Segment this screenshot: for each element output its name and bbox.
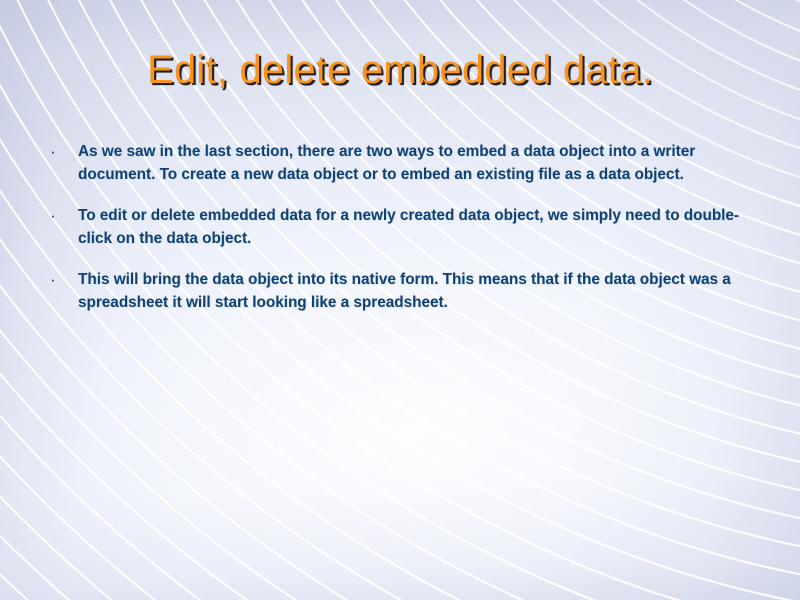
- presentation-slide: Edit, delete embedded data. · As we saw …: [0, 0, 800, 600]
- bullet-marker-icon: ·: [44, 268, 78, 291]
- bullet-text-2: To edit or delete embedded data for a ne…: [78, 204, 760, 250]
- bullet-text-1: As we saw in the last section, there are…: [78, 140, 760, 186]
- list-item: · This will bring the data object into i…: [44, 268, 760, 314]
- bullet-marker-icon: ·: [44, 140, 78, 163]
- bullet-marker-icon: ·: [44, 204, 78, 227]
- list-item: · As we saw in the last section, there a…: [44, 140, 760, 186]
- slide-title: Edit, delete embedded data.: [0, 46, 800, 94]
- bullet-text-3: This will bring the data object into its…: [78, 268, 760, 314]
- slide-body: · As we saw in the last section, there a…: [44, 140, 760, 314]
- list-item: · To edit or delete embedded data for a …: [44, 204, 760, 250]
